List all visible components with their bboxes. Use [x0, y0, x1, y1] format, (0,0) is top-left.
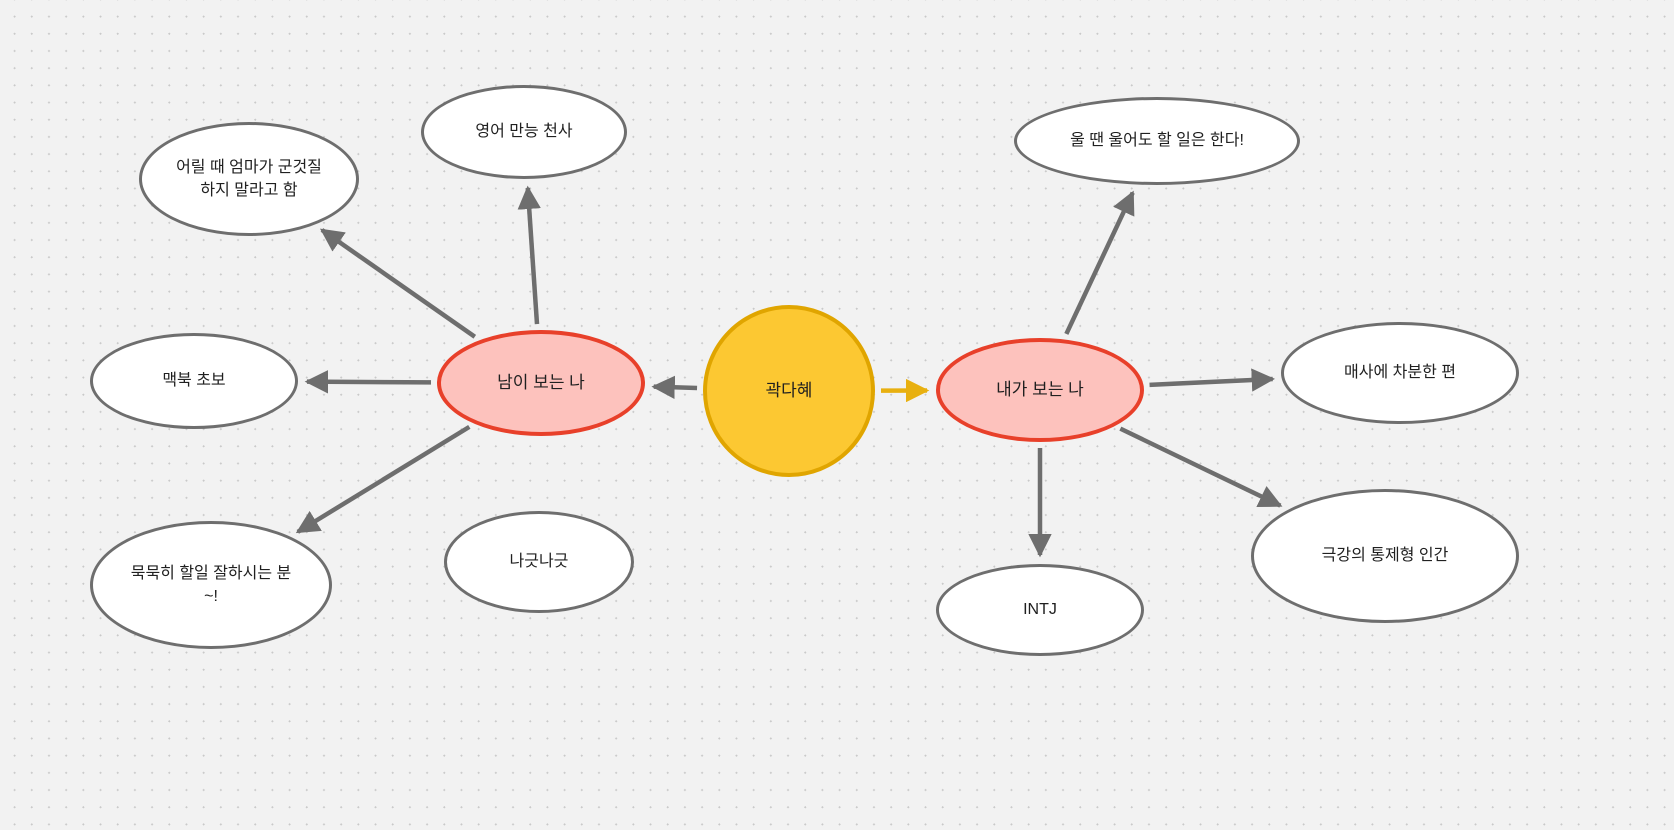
- node-calm-type[interactable]: 매사에 차분한 편: [1281, 322, 1519, 424]
- node-control-freak[interactable]: 극강의 통제형 인간: [1251, 489, 1519, 623]
- node-snack-memory[interactable]: 어릴 때 엄마가 군것질 하지 말라고 함: [139, 122, 359, 236]
- node-diligent-worker[interactable]: 묵묵히 할일 잘하시는 분 ~!: [90, 521, 332, 649]
- node-label: 극강의 통제형 인간: [1322, 544, 1449, 567]
- node-label: INTJ: [1023, 598, 1057, 621]
- edge-others-view-to-diligent-worker: [298, 427, 470, 532]
- node-label: 울 땐 울어도 할 일은 한다!: [1070, 129, 1244, 152]
- node-cry-but-work[interactable]: 울 땐 울어도 할 일은 한다!: [1014, 97, 1300, 185]
- node-label: 맥북 초보: [162, 369, 225, 392]
- node-label: 매사에 차분한 편: [1344, 361, 1456, 384]
- node-label: 나긋나긋: [510, 550, 569, 573]
- node-label: 영어 만능 천사: [475, 120, 572, 143]
- edge-root-to-others-view: [654, 387, 697, 388]
- edge-self-view-to-calm-type: [1150, 379, 1273, 385]
- edge-others-view-to-macbook-beginner: [307, 382, 431, 383]
- edge-others-view-to-snack-memory: [322, 230, 475, 337]
- node-label: 곽다혜: [766, 379, 813, 404]
- edge-self-view-to-cry-but-work: [1066, 193, 1132, 334]
- node-label: 내가 보는 나: [996, 378, 1084, 403]
- node-gentle[interactable]: 나긋나긋: [444, 511, 634, 613]
- node-others-view[interactable]: 남이 보는 나: [437, 330, 645, 436]
- node-label: 어릴 때 엄마가 군것질 하지 말라고 함: [176, 156, 322, 202]
- node-macbook-beginner[interactable]: 맥북 초보: [90, 333, 298, 429]
- node-self-view[interactable]: 내가 보는 나: [936, 338, 1144, 442]
- node-root[interactable]: 곽다혜: [703, 305, 875, 477]
- edge-others-view-to-english-angel: [528, 188, 537, 324]
- mindmap-canvas[interactable]: 곽다혜남이 보는 나내가 보는 나어릴 때 엄마가 군것질 하지 말라고 함영어…: [0, 0, 1674, 830]
- node-label: 묵묵히 할일 잘하시는 분 ~!: [131, 562, 292, 608]
- node-english-angel[interactable]: 영어 만능 천사: [421, 85, 627, 179]
- edge-self-view-to-control-freak: [1120, 429, 1280, 506]
- node-label: 남이 보는 나: [497, 371, 585, 396]
- node-mbti[interactable]: INTJ: [936, 564, 1144, 656]
